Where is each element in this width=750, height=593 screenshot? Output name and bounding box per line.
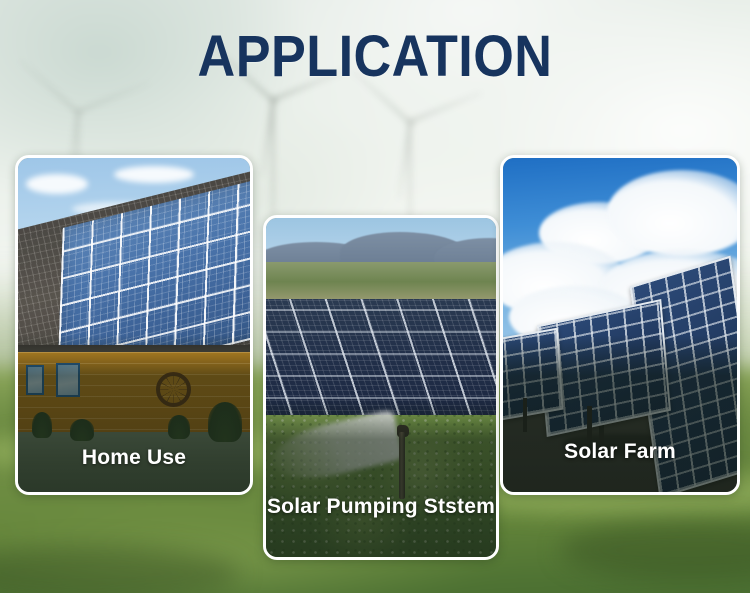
- label-gradient-overlay: [503, 335, 737, 492]
- application-card-solar-pumping-system[interactable]: Solar Pumping Ststem: [263, 215, 499, 560]
- cloud-shape: [114, 166, 194, 183]
- label-gradient-overlay: [266, 398, 496, 557]
- card-label-solar-farm: Solar Farm: [503, 440, 737, 464]
- wind-turbine-icon: [368, 118, 452, 230]
- card-label-solar-pumping-system: Solar Pumping Ststem: [266, 495, 496, 519]
- home-use-photo: [18, 158, 250, 492]
- application-card-home-use[interactable]: Home Use: [15, 155, 253, 495]
- cloud-shape: [26, 174, 88, 194]
- application-card-solar-farm[interactable]: Solar Farm: [500, 155, 740, 495]
- card-label-home-use: Home Use: [18, 446, 250, 470]
- application-banner: APPLICATION Home: [0, 0, 750, 593]
- page-title: APPLICATION: [38, 28, 713, 86]
